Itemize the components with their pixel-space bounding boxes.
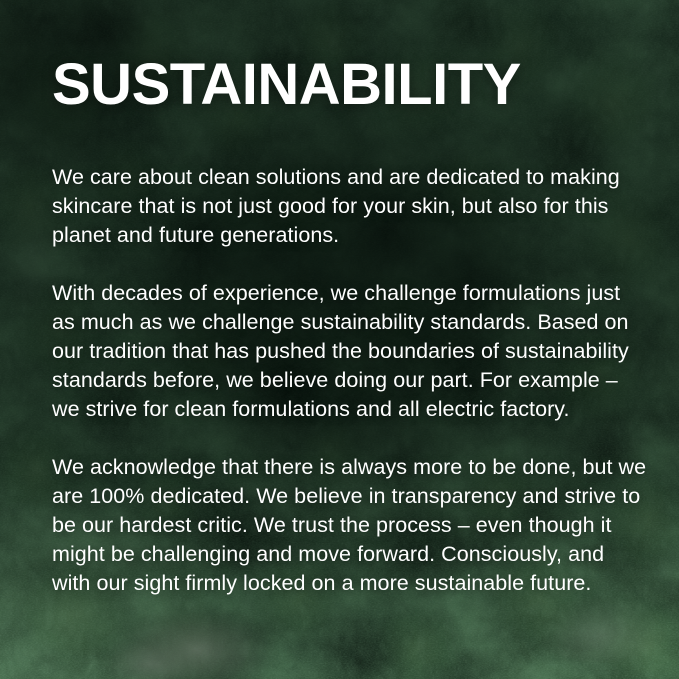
paragraph-2: With decades of experience, we challenge… (52, 279, 648, 424)
sustainability-card: SUSTAINABILITY We care about clean solut… (0, 0, 679, 679)
paragraph-3: We acknowledge that there is always more… (52, 453, 648, 598)
paragraph-1: We care about clean solutions and are de… (52, 163, 648, 250)
page-title: SUSTAINABILITY (52, 56, 521, 114)
body-copy: We care about clean solutions and are de… (52, 163, 648, 598)
text-content: SUSTAINABILITY We care about clean solut… (52, 0, 648, 679)
